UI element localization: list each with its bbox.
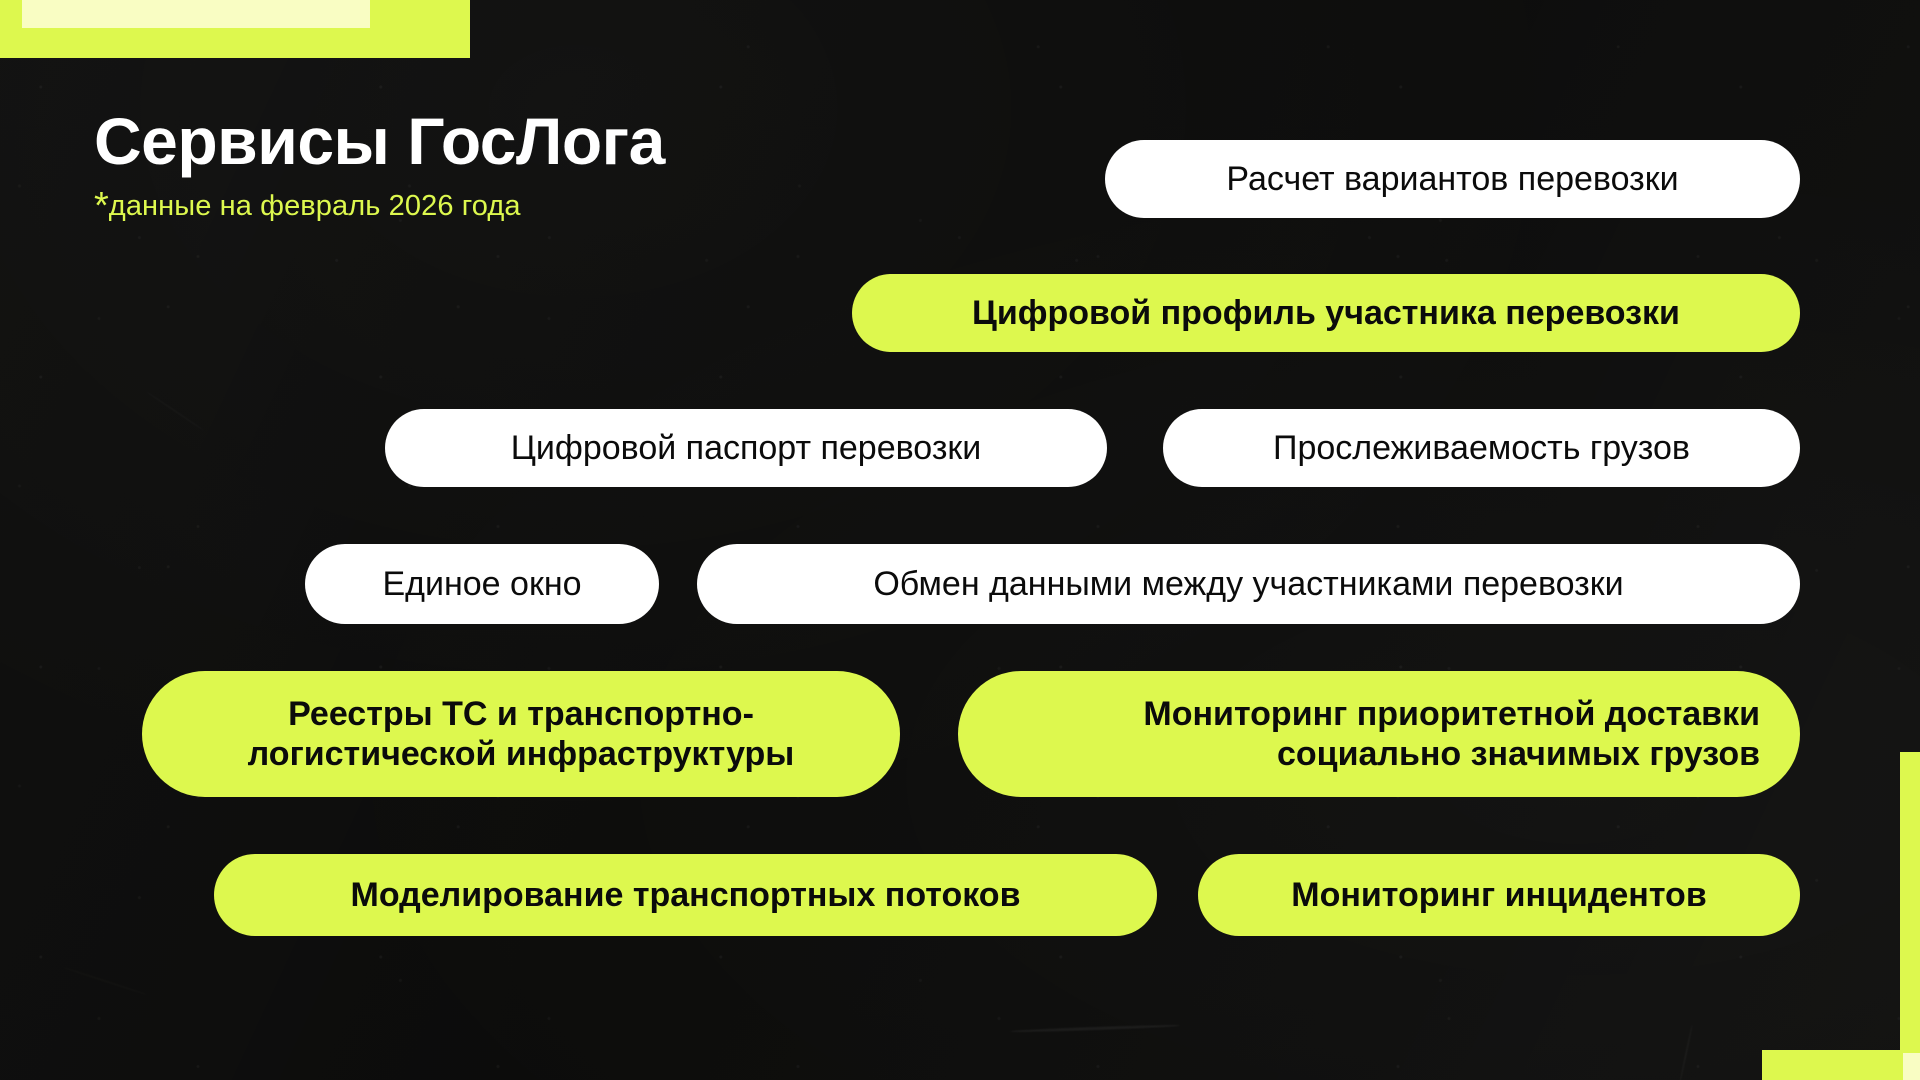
decoration-bottom-right-horizontal-bar (1762, 1050, 1920, 1080)
service-pill-reestry-ts-i-transportno-logisticheskoy-infrastruktury[interactable]: Реестры ТС и транспортно- логистической … (142, 671, 900, 797)
background-scratch (1679, 1024, 1693, 1080)
slide-canvas: Сервисы ГосЛога * данные на февраль 2026… (0, 0, 1920, 1080)
asterisk-icon: * (94, 187, 109, 225)
decoration-bottom-right-vertical-bar (1900, 752, 1920, 1080)
service-pill-proslezhivaemost-gruzov[interactable]: Прослеживаемость грузов (1163, 409, 1800, 487)
service-pill-monitoring-incidentov[interactable]: Мониторинг инцидентов (1198, 854, 1800, 936)
decoration-bottom-right-cream-bar (1903, 1053, 1920, 1080)
service-pill-cifrovoy-pasport-perevozki[interactable]: Цифровой паспорт перевозки (385, 409, 1107, 487)
background-scratch (1010, 1024, 1180, 1033)
heading-block: Сервисы ГосЛога * данные на февраль 2026… (94, 108, 665, 219)
service-pill-edinoe-okno[interactable]: Единое окно (305, 544, 659, 624)
background-scratch (62, 966, 148, 996)
service-pill-obmen-dannymi-mezhdu-uchastnikami-perevozki[interactable]: Обмен данными между участниками перевозк… (697, 544, 1800, 624)
page-title: Сервисы ГосЛога (94, 108, 665, 175)
service-pill-monitoring-prioritetnoy-dostavki-socialno-znachimyh-gruzov[interactable]: Мониторинг приоритетной доставки социаль… (958, 671, 1800, 797)
service-pill-raschet-variantov-perevozki[interactable]: Расчет вариантов перевозки (1105, 140, 1800, 218)
service-pill-cifrovoy-profil-uchastnika-perevozki[interactable]: Цифровой профиль участника перевозки (852, 274, 1800, 352)
decoration-top-left-cream-bar (22, 0, 370, 28)
background-scratch (145, 391, 204, 432)
subtitle-row: * данные на февраль 2026 года (94, 181, 665, 219)
service-pill-modelirovanie-transportnyh-potokov[interactable]: Моделирование транспортных потоков (214, 854, 1157, 936)
subtitle-text: данные на февраль 2026 года (109, 192, 521, 221)
